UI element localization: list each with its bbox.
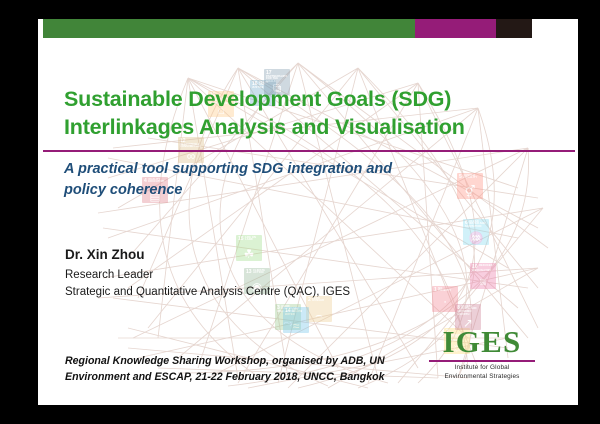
sdg-tile-number: 17 [266, 71, 272, 76]
sdg-tile-glyph-icon: ॱ [432, 299, 458, 311]
sdg-tile-label: DECENT WORK AND ECONOMIC GROWTH [457, 306, 479, 318]
band-segment-green [43, 19, 415, 38]
title-divider-rule [43, 150, 575, 152]
iges-tagline-line-2: Environmental Strategies [424, 373, 540, 382]
sdg-tile-number: 6 [465, 221, 468, 226]
sdg-tile-glyph-icon: ≈ [283, 320, 309, 332]
sdg-tile-label: PARTNERSHIPS FOR THE GOALS [266, 71, 288, 85]
sdg-tile-number: 14 [285, 309, 291, 314]
sdg-tile-glyph-icon: ⌢ [306, 309, 332, 321]
sdg-tile-label: CLEAN WATER AND SANITATION [465, 221, 487, 230]
slide-page: 1NO POVERTYॱ2ZERO HUNGER⌢3GOOD HEALTH AN… [38, 19, 578, 405]
sdg-goal-tile-3: 3GOOD HEALTH AND WELL-BEING⤳ [275, 304, 301, 330]
slide-subtitle-line-2: policy coherence [64, 180, 484, 201]
sdg-tile-label: LIFE BELOW WATER [285, 309, 307, 318]
band-segment-magenta [415, 19, 496, 38]
iges-wordmark: IGES [424, 326, 540, 357]
sdg-tile-number: 3 [277, 306, 280, 311]
footer-line-1: Regional Knowledge Sharing Workshop, org… [65, 353, 445, 369]
sdg-tile-label: LIFE ON LAND [238, 237, 260, 243]
author-name: Dr. Xin Zhou [65, 245, 485, 265]
sdg-tile-glyph-icon: ♒ [463, 232, 489, 244]
band-segment-dark [496, 19, 532, 38]
author-organisation: Strategic and Quantitative Analysis Cent… [65, 284, 485, 301]
slide-title-line-2: Interlinkages Analysis and Visualisation [64, 114, 554, 142]
iges-tagline-line-1: Institute for Global [424, 364, 540, 373]
footer-block: Regional Knowledge Sharing Workshop, org… [65, 353, 445, 385]
iges-logo-rule [429, 360, 535, 362]
subtitle-block: A practical tool supporting SDG integrat… [64, 159, 484, 201]
title-block: Sustainable Development Goals (SDG) Inte… [64, 86, 554, 141]
sdg-goal-tile-6: 6CLEAN WATER AND SANITATION♒ [463, 219, 489, 245]
author-role: Research Leader [65, 267, 485, 284]
slide-subtitle-line-1: A practical tool supporting SDG integrat… [64, 159, 484, 180]
author-block: Dr. Xin Zhou Research Leader Strategic a… [65, 245, 485, 301]
footer-line-2: Environment and ESCAP, 21-22 February 20… [65, 369, 445, 385]
sdg-tile-label: GOOD HEALTH AND WELL-BEING [277, 306, 299, 315]
sdg-goal-tile-14: 14LIFE BELOW WATER≈ [283, 307, 309, 333]
sdg-tile-number: 15 [238, 237, 244, 242]
iges-logo: IGES Institute for Global Environmental … [424, 326, 540, 382]
sdg-tile-glyph-icon: ⤳ [275, 317, 301, 329]
slide-canvas: 1NO POVERTYॱ2ZERO HUNGER⌢3GOOD HEALTH AN… [0, 0, 600, 424]
slide-title-line-1: Sustainable Development Goals (SDG) [64, 86, 554, 114]
top-color-band [43, 19, 575, 38]
sdg-tile-number: 8 [457, 306, 460, 311]
